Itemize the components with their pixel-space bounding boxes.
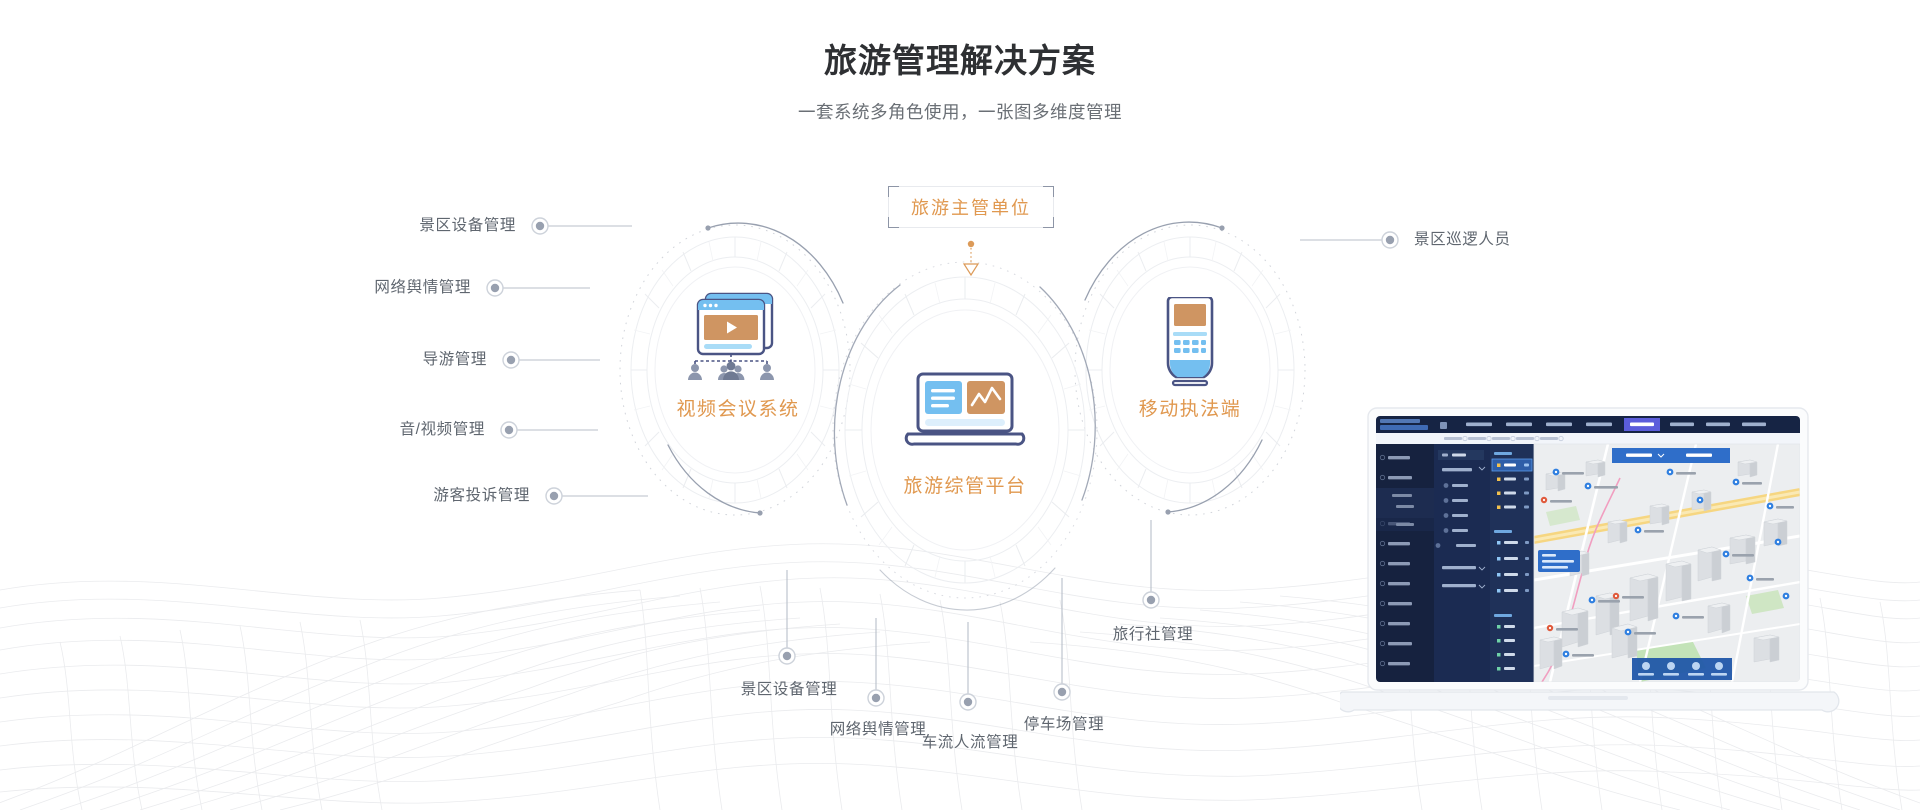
laptop-product-mockup xyxy=(1340,400,1920,730)
node-label-left-1[interactable]: 网络舆情管理 xyxy=(275,278,471,298)
supervisor-unit-label: 旅游主管单位 xyxy=(911,194,1031,220)
node-label-bottom-2[interactable]: 车流人流管理 xyxy=(870,733,1070,753)
handheld-terminal-icon xyxy=(1158,297,1222,389)
hub-caption-tourism-platform: 旅游综管平台 xyxy=(887,471,1043,498)
corner-bracket-bottom-left xyxy=(888,217,899,228)
corner-bracket-top-right xyxy=(1043,186,1054,197)
hub-caption-video-conference: 视频会议系统 xyxy=(660,394,816,421)
supervisor-connector xyxy=(964,241,978,275)
node-label-left-2[interactable]: 导游管理 xyxy=(291,350,487,370)
node-label-bottom-3[interactable]: 停车场管理 xyxy=(964,715,1164,735)
browser-play-icon xyxy=(676,288,800,380)
node-label-right-0[interactable]: 景区巡逻人员 xyxy=(1414,230,1614,250)
right-connectors xyxy=(1300,232,1398,248)
node-label-bottom-0[interactable]: 景区设备管理 xyxy=(689,680,889,700)
laptop-dashboard-icon xyxy=(904,372,1026,448)
laptop-screen-content xyxy=(1376,416,1800,682)
corner-bracket-top-left xyxy=(888,186,899,197)
supervisor-unit-box[interactable]: 旅游主管单位 xyxy=(888,186,1054,228)
node-label-left-4[interactable]: 游客投诉管理 xyxy=(334,486,530,506)
node-label-left-0[interactable]: 景区设备管理 xyxy=(320,216,516,236)
node-label-left-3[interactable]: 音/视频管理 xyxy=(289,420,485,440)
corner-bracket-bottom-right xyxy=(1043,217,1054,228)
left-connectors xyxy=(487,218,648,504)
tourism-solution-infographic: 旅游管理解决方案 一套系统多角色使用，一张图多维度管理 xyxy=(0,0,1920,810)
node-label-bottom-4[interactable]: 旅行社管理 xyxy=(1053,625,1253,645)
hub-caption-mobile-enforcement: 移动执法端 xyxy=(1112,394,1268,421)
